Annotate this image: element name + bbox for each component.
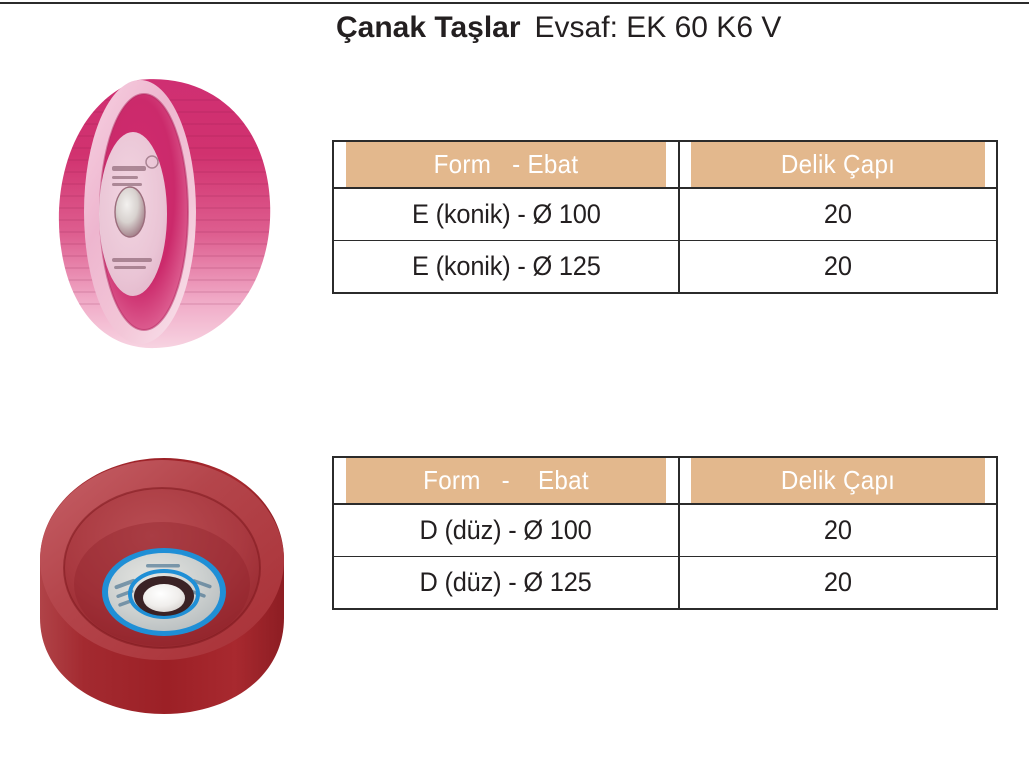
column-header-form-size: Form - Ebat bbox=[345, 457, 667, 504]
cell-form-size: D (düz) - Ø 100 bbox=[333, 504, 679, 557]
column-header-hole-diameter: Delik Çapı bbox=[690, 457, 986, 504]
cell-form-size: D (düz) - Ø 125 bbox=[333, 557, 679, 610]
table-row: D (düz) - Ø 125 20 bbox=[333, 557, 997, 610]
cell-hole-diameter: 20 bbox=[679, 504, 997, 557]
cell-form-size: E (konik) - Ø 100 bbox=[333, 188, 679, 241]
page-top-rule bbox=[0, 2, 1029, 4]
table-header-row: Form - Ebat Delik Çapı bbox=[333, 141, 997, 188]
flat-cup-wheel-image bbox=[22, 442, 302, 730]
flat-wheel-spec-table: Form - Ebat Delik Çapı D (düz) - Ø 100 2… bbox=[332, 456, 998, 610]
column-header-hole-diameter: Delik Çapı bbox=[690, 141, 986, 188]
page-title-specification: Evsaf: EK 60 K6 V bbox=[535, 11, 782, 44]
cell-hole-diameter: 20 bbox=[679, 557, 997, 610]
page-title-main: Çanak Taşlar bbox=[336, 11, 521, 44]
cell-hole-diameter: 20 bbox=[679, 241, 997, 294]
page-title: Çanak TaşlarEvsaf: EK 60 K6 V bbox=[336, 13, 781, 43]
table-row: E (konik) - Ø 125 20 bbox=[333, 241, 997, 294]
conical-wheel-spec-table: Form - Ebat Delik Çapı E (konik) - Ø 100… bbox=[332, 140, 998, 294]
table-row: E (konik) - Ø 100 20 bbox=[333, 188, 997, 241]
table-row: D (düz) - Ø 100 20 bbox=[333, 504, 997, 557]
cell-hole-diameter: 20 bbox=[679, 188, 997, 241]
cell-form-size: E (konik) - Ø 125 bbox=[333, 241, 679, 294]
column-header-form-size: Form - Ebat bbox=[345, 141, 667, 188]
table-header-row: Form - Ebat Delik Çapı bbox=[333, 457, 997, 504]
conical-cup-wheel-image bbox=[28, 62, 294, 358]
